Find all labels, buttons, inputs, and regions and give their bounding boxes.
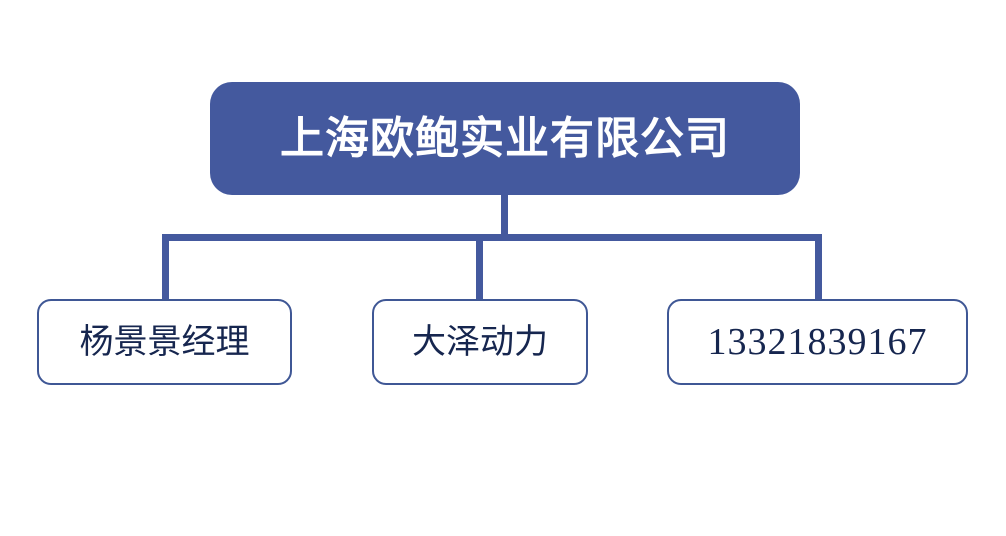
org-node-child-manager-label: 杨景景经理: [80, 325, 250, 359]
org-node-child-phone-label: 13321839167: [708, 323, 928, 361]
org-node-child-manager: 杨景景经理: [37, 299, 292, 385]
connector-drop-child-0: [162, 234, 169, 299]
connector-drop-child-1: [476, 234, 483, 299]
org-node-root: 上海欧鲍实业有限公司: [210, 82, 800, 195]
connector-lines: [0, 0, 1006, 536]
org-node-child-brand-label: 大泽动力: [412, 325, 548, 359]
connector-root-stem: [501, 195, 508, 241]
org-node-child-phone: 13321839167: [667, 299, 968, 385]
connector-drop-child-2: [815, 234, 822, 299]
org-chart: 上海欧鲍实业有限公司 杨景景经理 大泽动力 13321839167: [0, 0, 1006, 536]
org-node-root-label: 上海欧鲍实业有限公司: [280, 117, 730, 161]
connector-horizontal-bar: [162, 234, 822, 241]
org-node-child-brand: 大泽动力: [372, 299, 588, 385]
